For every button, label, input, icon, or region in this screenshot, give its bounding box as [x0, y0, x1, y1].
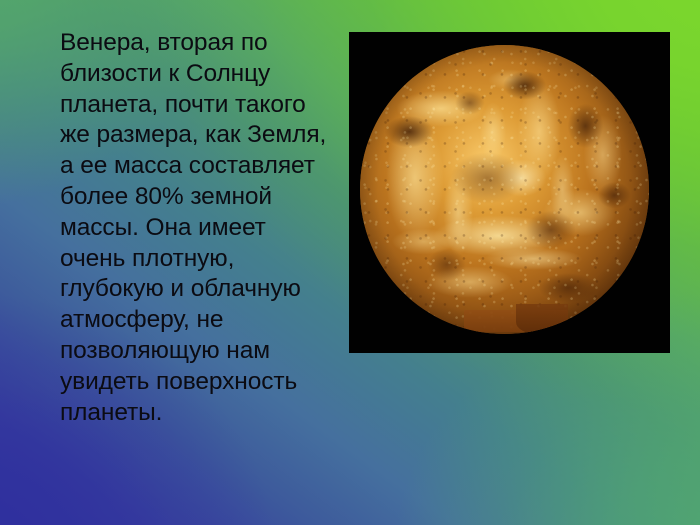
- presentation-slide: Венера, вторая по близости к Солнцу план…: [0, 0, 700, 525]
- planet-bottom-band-secondary: [516, 304, 568, 334]
- venus-photo-frame: [349, 32, 670, 353]
- venus-description-text: Венера, вторая по близости к Солнцу план…: [60, 28, 336, 428]
- planet-limb-darkening: [360, 45, 649, 334]
- venus-planet-disc: [360, 45, 649, 334]
